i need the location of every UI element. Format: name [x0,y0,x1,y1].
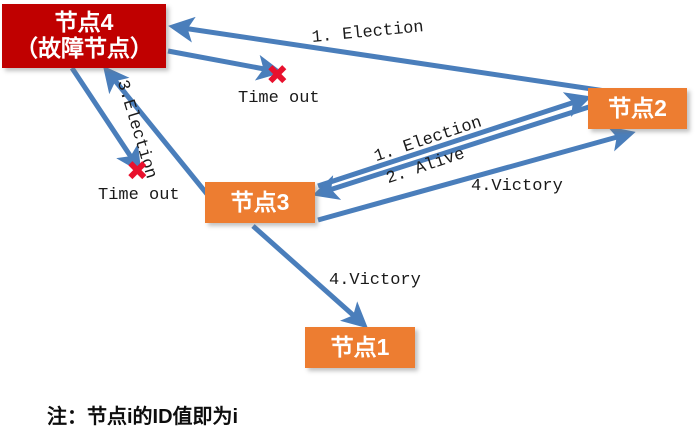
node-1-label: 节点1 [331,335,390,361]
node-3-label: 节点3 [231,190,290,216]
timeout-label-top: Time out [238,89,320,108]
node-4-label-line1: 节点4 [15,10,153,36]
node-2-label: 节点2 [608,96,667,122]
x-mark-icon-top: ✖ [266,62,289,89]
edge-label-victory-right: 4.Victory [471,177,563,196]
diagram-canvas: 节点4 （故障节点） 节点2 节点3 节点1 1. Election 1. El… [0,0,696,447]
node-4-failed[interactable]: 节点4 （故障节点） [2,4,166,68]
node-1[interactable]: 节点1 [305,327,415,368]
arrow-node4-to-timeout-top [168,51,275,71]
node-4-label-line2: （故障节点） [15,36,153,62]
node-2[interactable]: 节点2 [588,88,687,129]
x-mark-icon-left: ✖ [126,158,149,185]
node-3[interactable]: 节点3 [205,182,315,223]
timeout-label-left: Time out [98,186,180,205]
edge-label-victory-bottom: 4.Victory [329,271,421,290]
footnote-note: 注：节点i的ID值即为i [47,400,238,429]
